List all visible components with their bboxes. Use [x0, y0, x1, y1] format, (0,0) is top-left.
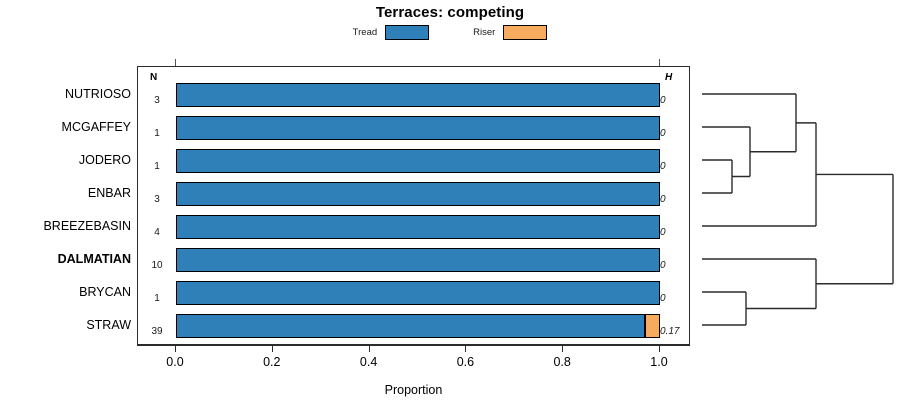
y-axis-label-mcgaffey: MCGAFFEY — [62, 119, 131, 135]
legend-label-riser: Riser — [473, 27, 495, 38]
x-tick-mark — [369, 346, 370, 352]
n-value-straw: 39 — [142, 326, 172, 338]
legend-item-tread: Tread — [353, 25, 429, 40]
x-tick-mark — [465, 346, 466, 352]
n-value-enbar: 3 — [142, 194, 172, 206]
x-axis-title: Proportion — [137, 383, 690, 397]
x-tick-mark — [272, 346, 273, 352]
y-axis-label-dalmatian: DALMATIAN — [58, 251, 131, 267]
x-tick-mark — [659, 346, 660, 352]
bar-row[interactable] — [176, 248, 660, 272]
legend-label-tread: Tread — [353, 27, 377, 38]
y-axis-label-breezebasin: BREEZEBASIN — [43, 218, 131, 234]
top-tick-mark — [175, 59, 176, 66]
column-header-n: N — [150, 72, 157, 83]
bar-segment-tread[interactable] — [176, 215, 660, 239]
x-tick-label: 1.0 — [629, 355, 689, 369]
legend: Tread Riser — [0, 25, 900, 40]
n-value-nutrioso: 3 — [142, 95, 172, 107]
n-value-dalmatian: 10 — [142, 260, 172, 272]
x-tick-label: 0.2 — [242, 355, 302, 369]
n-value-breezebasin: 4 — [142, 227, 172, 239]
dendrogram — [690, 66, 900, 345]
x-tick-mark — [175, 346, 176, 352]
bar-segment-tread[interactable] — [176, 248, 660, 272]
legend-item-riser: Riser — [473, 25, 547, 40]
x-tick-label: 0.6 — [435, 355, 495, 369]
y-axis-label-jodero: JODERO — [79, 152, 131, 168]
n-value-mcgaffey: 1 — [142, 128, 172, 140]
bar-row[interactable] — [176, 215, 660, 239]
bar-segment-tread[interactable] — [176, 149, 660, 173]
y-axis-label-brycan: BRYCAN — [79, 284, 131, 300]
bar-row[interactable] — [176, 149, 660, 173]
x-tick-label: 0.0 — [145, 355, 205, 369]
bar-row[interactable] — [176, 182, 660, 206]
plot-panel: N H 301010304010010390.17 — [137, 66, 690, 345]
bar-row[interactable] — [176, 314, 660, 338]
y-axis-label-nutrioso: NUTRIOSO — [65, 86, 131, 102]
bar-segment-tread[interactable] — [176, 314, 645, 338]
chart-root: Terraces: competing Tread Riser NUTRIOSO… — [0, 0, 900, 420]
bar-row[interactable] — [176, 116, 660, 140]
bar-segment-tread[interactable] — [176, 182, 660, 206]
bar-row[interactable] — [176, 281, 660, 305]
bar-segment-riser[interactable] — [645, 314, 660, 338]
x-axis-line — [137, 345, 690, 346]
x-tick-mark — [562, 346, 563, 352]
x-tick-label: 0.8 — [532, 355, 592, 369]
n-value-jodero: 1 — [142, 161, 172, 173]
bar-segment-tread[interactable] — [176, 116, 660, 140]
column-header-h: H — [665, 72, 672, 83]
x-tick-label: 0.4 — [339, 355, 399, 369]
n-value-brycan: 1 — [142, 293, 172, 305]
bar-row[interactable] — [176, 83, 660, 107]
page-title: Terraces: competing — [0, 4, 900, 21]
y-axis-label-enbar: ENBAR — [88, 185, 131, 201]
legend-swatch-tread — [385, 25, 429, 40]
bar-segment-tread[interactable] — [176, 281, 660, 305]
legend-swatch-riser — [503, 25, 547, 40]
y-axis-label-straw: STRAW — [86, 317, 131, 333]
dendrogram-svg — [690, 66, 900, 345]
top-tick-mark — [659, 59, 660, 66]
bar-segment-tread[interactable] — [176, 83, 660, 107]
